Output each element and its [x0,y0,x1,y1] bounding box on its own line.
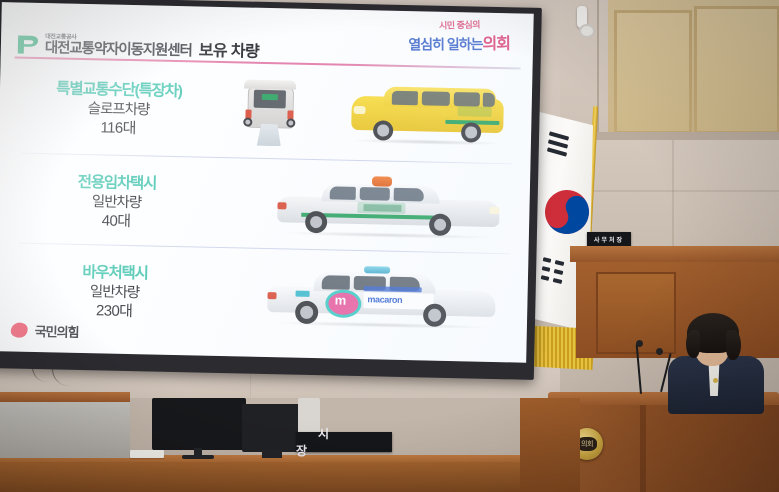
desk-paper [130,450,164,458]
slide-row-3-category: 바우처택시 [0,262,234,285]
slide-row-2-category: 전용임차택시 [0,172,236,195]
podium-seam [640,405,646,492]
council-slogan-bottom-text: 열심히 일하는 [408,36,482,52]
speaker-lapel-pin [713,378,718,383]
council-slogan-accent: 의회 [482,36,510,53]
podium-microphone-head-1[interactable] [656,348,663,355]
slide-row-2-art [235,165,531,251]
monitor-right [242,404,300,452]
rear-desk-top [570,246,779,262]
org-main-label: 대전교통약자이동지원센터 [45,41,192,59]
secretary-nameplate: 사무처장 [587,232,631,247]
slide-row-1-art [237,69,533,161]
left-partition [0,398,130,458]
presentation-slide: 대전교통공사 대전교통약자이동지원센터 보유 차량 시민 중심의 열심히 일하는… [0,2,534,363]
slide-row-1: 특별교통수단(특장차) 슬로프차량 116대 [0,64,532,162]
dtc-logo-icon [15,32,42,57]
trigram-bar [542,266,551,272]
slide-row-2-text: 전용임차택시 일반차량 40대 [0,172,236,233]
left-partition-cap [0,392,130,402]
slide-row-1-category: 특별교통수단(특장차) [0,79,238,102]
yellow-slope-van-side-image [349,82,508,151]
organization-text: 대전교통공사 대전교통약자이동지원센터 [45,34,192,59]
front-desk-face [0,462,520,492]
council-slogan-logo: 시민 중심의 열심히 일하는의회 [403,17,516,59]
trigram-bar [541,275,550,281]
trigram-bar [547,147,567,156]
podium-microphone-head-2[interactable] [636,340,643,347]
white-green-stripe-taxi-side-image [277,174,504,243]
slide-row-3-text: 바우처택시 일반차량 230대 [0,262,234,323]
wood-door-left [614,10,692,134]
people-power-party-mark-icon [10,322,28,338]
speaker-hair-side-left [686,330,700,358]
slide-row-1-count: 116대 [0,117,237,140]
wheelchair-ramp-van-rear-image [241,75,299,148]
trigram-bar [543,257,552,263]
slide-title: 보유 차량 [199,36,260,61]
monitor-right-stand [262,450,282,458]
council-slogan-bottom: 열심히 일하는의회 [403,30,515,55]
monitor-left [152,398,246,450]
slide-row-3-count: 230대 [0,300,233,323]
speaker-hair-side-right [726,330,741,360]
side-desk [520,398,580,492]
slide-row-2: 전용임차택시 일반차량 40대 [0,160,530,252]
podium-emblem-text: 의회 [577,437,597,451]
party-name-label: 국민의힘 [35,321,79,341]
slide-row-1-text: 특별교통수단(특장차) 슬로프차량 116대 [0,79,238,140]
mayor-nameplate: 시 장 [296,432,392,452]
screenshot-root: 사무처장 의회 시 장 [0,0,779,492]
monitor-left-base [182,455,214,459]
trigram-bar [554,269,564,275]
trigram-bar [555,260,565,266]
slide-row-2-count: 40대 [0,210,235,233]
slide-row-3-art: m macaron [233,255,529,341]
slide-row-3: 바우처택시 일반차량 230대 m macar [0,250,528,342]
trigram-bar [553,278,563,284]
macaron-voucher-taxi-side-image: m macaron [267,264,500,333]
party-logo: 국민의힘 [11,320,79,340]
ceiling-security-camera-lens [579,24,595,38]
wood-door-right [694,6,779,134]
projection-screen: 대전교통공사 대전교통약자이동지원센터 보유 차량 시민 중심의 열심히 일하는… [0,0,542,380]
